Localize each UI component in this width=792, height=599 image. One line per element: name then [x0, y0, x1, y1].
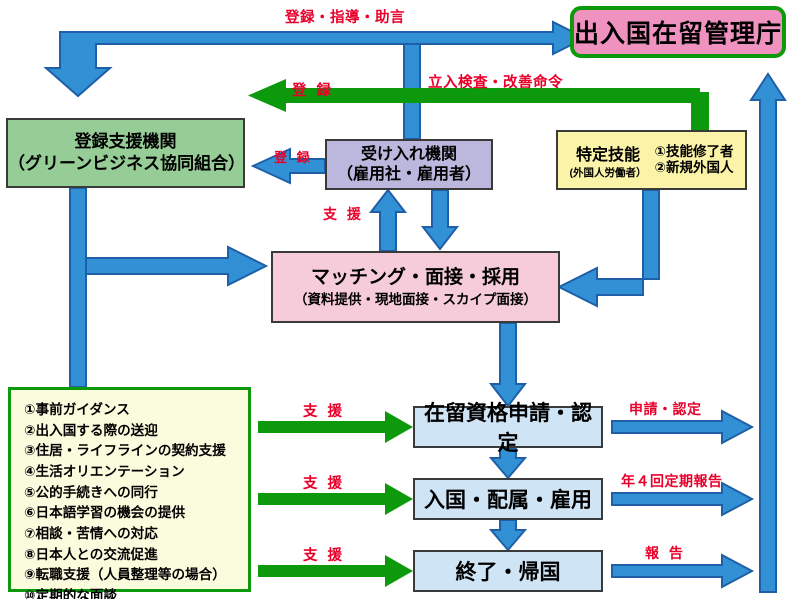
label-inspection-order: 立入検査・改善命令: [428, 71, 563, 92]
list-item: ②出入国する際の送迎: [24, 421, 248, 442]
box-specified-skilled-worker[interactable]: 特定技能 (外国人労働者） ①技能修了者 ②新規外国人: [556, 130, 747, 190]
box-registered-support-organization[interactable]: 登録支援機関 （グリーンビジネス協同組合）: [6, 118, 245, 188]
diagram-canvas: .bl{fill:#3291d4;stroke:#1f5fa8;stroke-w…: [0, 0, 792, 599]
list-item: ⑥日本語学習の機会の提供: [24, 503, 248, 524]
arrow-support-down: [423, 190, 457, 249]
arrow-stage2-to-stage3: [491, 520, 525, 550]
list-item: ④生活オリエンテーション: [24, 462, 248, 483]
matching-line1: マッチング・面接・採用: [311, 266, 520, 291]
label-registration-green: 登 録: [292, 79, 334, 100]
skill-item1: ①技能修了者: [655, 144, 734, 160]
arrow-supportorg-down: [70, 188, 86, 387]
stage-2-label: 入国・配属・雇用: [424, 484, 592, 514]
box-immigration-agency-label: 出入国在留管理庁: [574, 14, 782, 50]
list-item: ⑨転職支援（人員整理等の場合）: [24, 565, 248, 586]
label-support-mid: 支 援: [323, 204, 364, 224]
stage-3-label: 終了・帰国: [456, 556, 561, 586]
skill-line2: (外国人労働者）: [570, 165, 647, 180]
label-support-stage1: 支 援: [303, 400, 345, 421]
stage-1-label: 在留資格申請・認定: [415, 397, 601, 457]
label-support-stage3: 支 援: [303, 544, 345, 565]
box-stage-entry-assignment-employment[interactable]: 入国・配属・雇用: [413, 478, 603, 520]
box-immigration-agency[interactable]: 出入国在留管理庁: [570, 6, 786, 58]
skill-item2: ②新規外国人: [655, 160, 734, 176]
box-stage-completion-return[interactable]: 終了・帰国: [413, 550, 603, 592]
label-registration-guidance: 登録・指導・助言: [285, 6, 405, 27]
list-item: ③住居・ライフラインの契約支援: [24, 441, 248, 462]
box-support-services-list[interactable]: ①事前ガイダンス ②出入国する際の送迎 ③住居・ライフラインの契約支援 ④生活オ…: [8, 387, 251, 592]
list-item: ⑧日本人との交流促進: [24, 545, 248, 566]
support-org-line1: 登録支援機関: [75, 131, 177, 153]
accepting-org-line1: 受け入れ機関: [361, 145, 457, 165]
list-item: ⑦相談・苦情への対応: [24, 524, 248, 545]
matching-line2: （資料提供・現地面接・スカイプ面接）: [294, 291, 537, 309]
support-org-line2: （グリーンビジネス協同組合）: [8, 153, 243, 175]
box-stage-residence-application[interactable]: 在留資格申請・認定: [413, 406, 603, 448]
arrow-supportorg-to-matching: [86, 247, 266, 285]
arrow-matching-to-stage1: [491, 323, 525, 406]
list-item: ⑩定期的な面談: [24, 586, 248, 599]
label-quarterly-report: 年４回定期報告: [621, 471, 723, 491]
list-item: ⑤公的手続きへの同行: [24, 483, 248, 504]
label-report: 報 告: [645, 543, 686, 563]
arrow-support-up: [371, 190, 405, 251]
label-application-certification: 申請・認定: [629, 399, 702, 419]
arrow-reports-riser: [751, 74, 785, 592]
list-item: ①事前ガイダンス: [24, 400, 248, 421]
box-accepting-organization[interactable]: 受け入れ機関 （雇用社・雇用者）: [325, 139, 493, 190]
arrow-skill-to-matching: [559, 190, 659, 306]
skill-line1: 特定技能: [576, 141, 640, 165]
box-matching-interview-hiring[interactable]: マッチング・面接・採用 （資料提供・現地面接・スカイプ面接）: [271, 251, 560, 323]
accepting-org-line2: （雇用社・雇用者）: [337, 165, 481, 185]
label-registration-blue: 登 録: [274, 147, 313, 166]
label-support-stage2: 支 援: [303, 472, 345, 493]
arrow-registration-green-riser: [691, 92, 709, 130]
